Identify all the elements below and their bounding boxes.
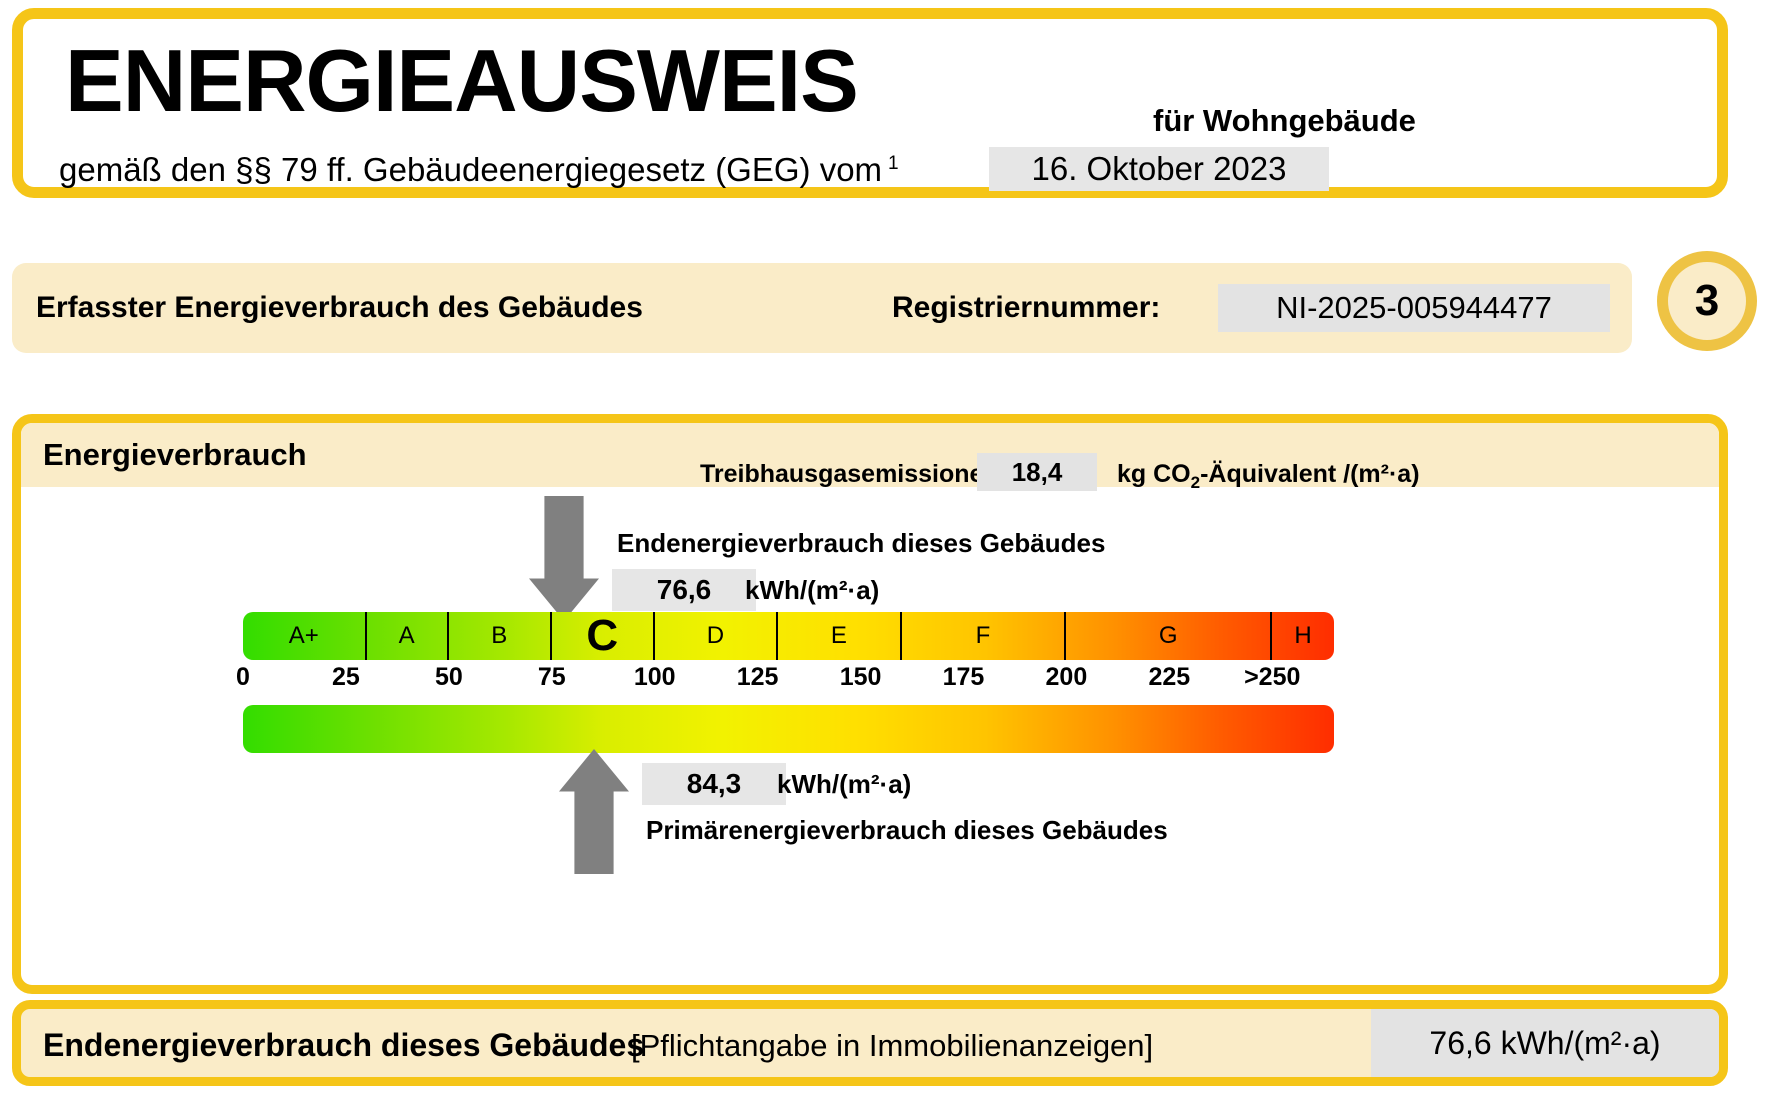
energy-class-segment-a: A bbox=[367, 612, 449, 660]
energy-class-segment-b: B bbox=[449, 612, 552, 660]
page-subtitle: für Wohngebäude bbox=[1153, 103, 1416, 139]
scale-tick-7: 175 bbox=[943, 663, 985, 692]
end-energy-unit: kWh/(m²·a) bbox=[745, 575, 879, 606]
end-energy-title: Endenergieverbrauch dieses Gebäudes bbox=[617, 528, 1105, 559]
scale-tick-1: 25 bbox=[332, 663, 360, 692]
scale-tick-8: 200 bbox=[1046, 663, 1088, 692]
energy-class-segment-e: E bbox=[778, 612, 902, 660]
primary-energy-title: Primärenergieverbrauch dieses Gebäudes bbox=[646, 815, 1168, 846]
scale-tick-9: 225 bbox=[1148, 663, 1190, 692]
registration-title: Erfasster Energieverbrauch des Gebäudes bbox=[36, 291, 643, 325]
energy-class-segment-d: D bbox=[655, 612, 779, 660]
footer-value: 76,6 kWh/(m²·a) bbox=[1371, 1009, 1719, 1077]
energy-class-segment-f: F bbox=[902, 612, 1067, 660]
scale-tick-2: 50 bbox=[435, 663, 463, 692]
energy-gradient-band bbox=[243, 705, 1334, 753]
end-energy-value: 76,6 bbox=[612, 569, 756, 611]
primary-energy-value: 84,3 bbox=[642, 763, 786, 805]
scale-tick-3: 75 bbox=[538, 663, 566, 692]
scale-tick-10: >250 bbox=[1244, 663, 1300, 692]
ghg-unit-prefix: kg CO bbox=[1117, 460, 1191, 488]
greenhouse-gas-unit: kg CO2-Äquivalent /(m²·a) bbox=[1117, 460, 1420, 493]
greenhouse-gas-value: 18,4 bbox=[977, 453, 1097, 491]
legal-basis-label: gemäß den §§ 79 ff. Gebäudeenergiegesetz… bbox=[59, 151, 882, 188]
energy-class-segment-h: H bbox=[1272, 612, 1334, 660]
scale-tick-5: 125 bbox=[737, 663, 779, 692]
footer-label: Endenergieverbrauch dieses Gebäudes bbox=[43, 1027, 644, 1064]
registration-number-value: NI-2025-005944477 bbox=[1218, 284, 1610, 332]
energy-class-segment-c: C bbox=[552, 612, 655, 660]
ghg-unit-subscript: 2 bbox=[1191, 473, 1200, 492]
header-panel: ENERGIEAUSWEIS für Wohngebäude gemäß den… bbox=[12, 8, 1728, 198]
footnote-marker: 1 bbox=[888, 153, 899, 174]
scale-tick-labels: 0255075100125150175200225>250 bbox=[243, 663, 1334, 695]
panel-heading: Energieverbrauch bbox=[43, 437, 307, 473]
primary-energy-arrow-up-icon bbox=[559, 749, 629, 874]
registration-band: Erfasster Energieverbrauch des Gebäudes … bbox=[12, 263, 1632, 353]
footer-note: [Pflichtangabe in Immobilienanzeigen] bbox=[631, 1028, 1153, 1064]
end-energy-arrow-down-icon bbox=[529, 496, 599, 621]
energy-class-segment-aplus: A+ bbox=[243, 612, 367, 660]
scale-tick-0: 0 bbox=[236, 663, 250, 692]
greenhouse-gas-label: Treibhausgasemissionen bbox=[700, 460, 999, 489]
scale-tick-6: 150 bbox=[840, 663, 882, 692]
mandatory-disclosure-band: Endenergieverbrauch dieses Gebäudes [Pfl… bbox=[12, 1000, 1728, 1086]
scale-tick-4: 100 bbox=[634, 663, 676, 692]
energy-consumption-panel: Energieverbrauch Treibhausgasemissionen … bbox=[12, 414, 1728, 994]
primary-energy-unit: kWh/(m²·a) bbox=[777, 769, 911, 800]
ghg-unit-suffix: -Äquivalent /(m²·a) bbox=[1200, 460, 1419, 488]
energy-class-bar: A+ABCDEFGH bbox=[243, 612, 1334, 660]
page-title: ENERGIEAUSWEIS bbox=[65, 37, 858, 125]
legal-basis-text: gemäß den §§ 79 ff. Gebäudeenergiegesetz… bbox=[59, 151, 899, 189]
issue-date-value: 16. Oktober 2023 bbox=[989, 147, 1329, 191]
registration-number-label: Registriernummer: bbox=[892, 291, 1160, 325]
energy-class-scale: A+ABCDEFGH bbox=[243, 612, 1334, 660]
energy-class-segment-g: G bbox=[1066, 612, 1272, 660]
page-number-badge: 3 bbox=[1657, 251, 1757, 351]
